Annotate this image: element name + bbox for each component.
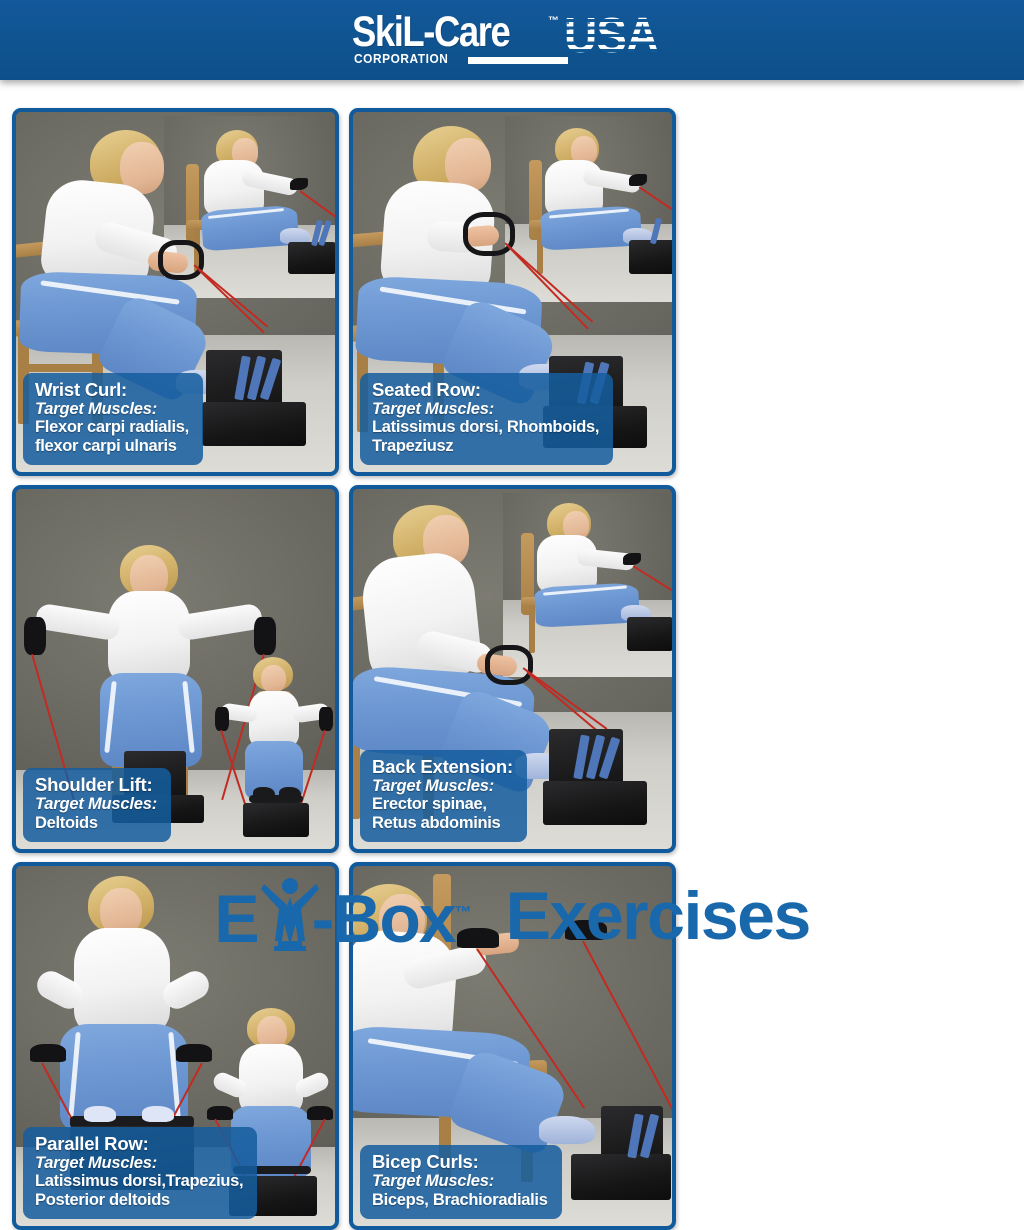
torso	[239, 1044, 303, 1114]
exbox-device	[243, 803, 309, 837]
handle-grip	[215, 707, 229, 731]
exbox-suffix: -Box	[312, 885, 455, 953]
exbox-base	[202, 402, 306, 446]
footer-heading: Exercises	[506, 882, 810, 950]
exbox-device	[288, 242, 336, 274]
exbox-wordmark: E-Box™	[214, 879, 471, 953]
target-muscles-line1: Flexor carpi radialis,	[35, 418, 189, 437]
shoe	[84, 1106, 116, 1122]
exercise-panel-shoulder-lift[interactable]: Shoulder Lift: Target Muscles: Deltoids	[12, 485, 339, 853]
exercise-title: Bicep Curls:	[372, 1151, 548, 1172]
target-muscles-label: Target Muscles:	[35, 400, 189, 419]
handle-grip	[158, 240, 204, 280]
handle-grip	[207, 1106, 233, 1120]
panel-caption: Back Extension: Target Muscles: Erector …	[360, 750, 527, 842]
exercise-grid: Wrist Curl: Target Muscles: Flexor carpi…	[12, 108, 1012, 1230]
resistance-cord	[632, 565, 674, 592]
panel-caption: Parallel Row: Target Muscles: Latissimus…	[23, 1127, 257, 1219]
exercise-title: Wrist Curl:	[35, 379, 189, 400]
trademark-icon: ™	[548, 15, 559, 27]
handle-grip	[485, 645, 533, 685]
shoe	[253, 787, 275, 801]
exercise-title: Seated Row:	[372, 379, 599, 400]
chair-leg	[529, 605, 535, 653]
handle-grip	[254, 617, 276, 655]
panel-caption: Seated Row: Target Muscles: Latissimus d…	[360, 373, 613, 465]
inset-photo	[505, 116, 676, 302]
torso	[108, 591, 190, 683]
footer-title-bar: E-Box™ Exercises	[0, 872, 1024, 960]
exercise-panel-wrist-curl[interactable]: Wrist Curl: Target Muscles: Flexor carpi…	[12, 108, 339, 476]
logo-rule-divider	[468, 57, 568, 64]
handle-grip	[623, 553, 641, 565]
resistance-cord	[220, 730, 247, 809]
exercise-panel-seated-row[interactable]: Seated Row: Target Muscles: Latissimus d…	[349, 108, 676, 476]
shoe	[539, 1116, 595, 1144]
exbox-person-icon	[261, 875, 319, 951]
exbox-device	[629, 240, 675, 274]
target-muscles-label: Target Muscles:	[372, 777, 513, 796]
exbox-prefix: E	[214, 885, 257, 953]
brand-subtitle: CORPORATION	[354, 52, 448, 66]
torso	[249, 691, 299, 747]
target-muscles-label: Target Muscles:	[35, 795, 157, 814]
exbox-base	[571, 1154, 671, 1200]
target-muscles-line1: Latissimus dorsi,Trapezius,	[35, 1172, 243, 1191]
handle-grip	[30, 1044, 66, 1062]
exbox-base	[543, 781, 647, 825]
shoe	[279, 787, 301, 801]
exercise-title: Parallel Row:	[35, 1133, 243, 1154]
brand-country-flag-text: USA	[564, 7, 676, 63]
panel-caption: Shoulder Lift: Target Muscles: Deltoids	[23, 768, 171, 842]
arm-left	[34, 603, 121, 642]
header-band: SkiL-Care ™ CORPORATION USA	[0, 0, 1024, 80]
target-muscles-line1: Erector spinae,	[372, 795, 513, 814]
target-muscles-label: Target Muscles:	[372, 400, 599, 419]
target-muscles-line2: Posterior deltoids	[35, 1191, 243, 1210]
exercise-title: Shoulder Lift:	[35, 774, 157, 795]
target-muscles-line2: flexor carpi ulnaris	[35, 437, 189, 456]
chair-rung	[20, 364, 102, 372]
exbox-device	[627, 617, 673, 651]
exercise-title: Back Extension:	[372, 756, 513, 777]
face	[261, 665, 286, 693]
inset-photo	[213, 653, 335, 849]
target-muscles-line2: Trapeziusz	[372, 437, 599, 456]
target-muscles-line1: Biceps, Brachioradialis	[372, 1191, 548, 1210]
handle-grip	[319, 707, 333, 731]
target-muscles-line2: Retus abdominis	[372, 814, 513, 833]
handle-grip	[290, 178, 308, 190]
resistance-cord	[299, 190, 336, 217]
handle-grip	[629, 174, 647, 186]
panel-caption: Wrist Curl: Target Muscles: Flexor carpi…	[23, 373, 203, 465]
trademark-icon: ™	[455, 903, 472, 922]
exercise-panel-back-extension[interactable]: Back Extension: Target Muscles: Erector …	[349, 485, 676, 853]
arm-right	[176, 603, 263, 642]
handle-grip	[307, 1106, 333, 1120]
target-muscles-line1: Latissimus dorsi, Rhomboids,	[372, 418, 599, 437]
shoe	[142, 1106, 174, 1122]
skilcare-logo: SkiL-Care ™ CORPORATION USA	[352, 11, 682, 69]
resistance-cord	[638, 186, 676, 213]
brand-name: SkiL-Care	[352, 9, 509, 57]
target-muscles-label: Target Muscles:	[35, 1154, 243, 1173]
target-muscles-line1: Deltoids	[35, 814, 157, 833]
handle-grip	[463, 212, 515, 256]
resistance-cord	[582, 941, 676, 1122]
target-muscles-label: Target Muscles:	[372, 1172, 548, 1191]
panel-caption: Bicep Curls: Target Muscles: Biceps, Bra…	[360, 1145, 562, 1219]
inset-photo	[503, 493, 676, 677]
handle-grip	[24, 617, 46, 655]
